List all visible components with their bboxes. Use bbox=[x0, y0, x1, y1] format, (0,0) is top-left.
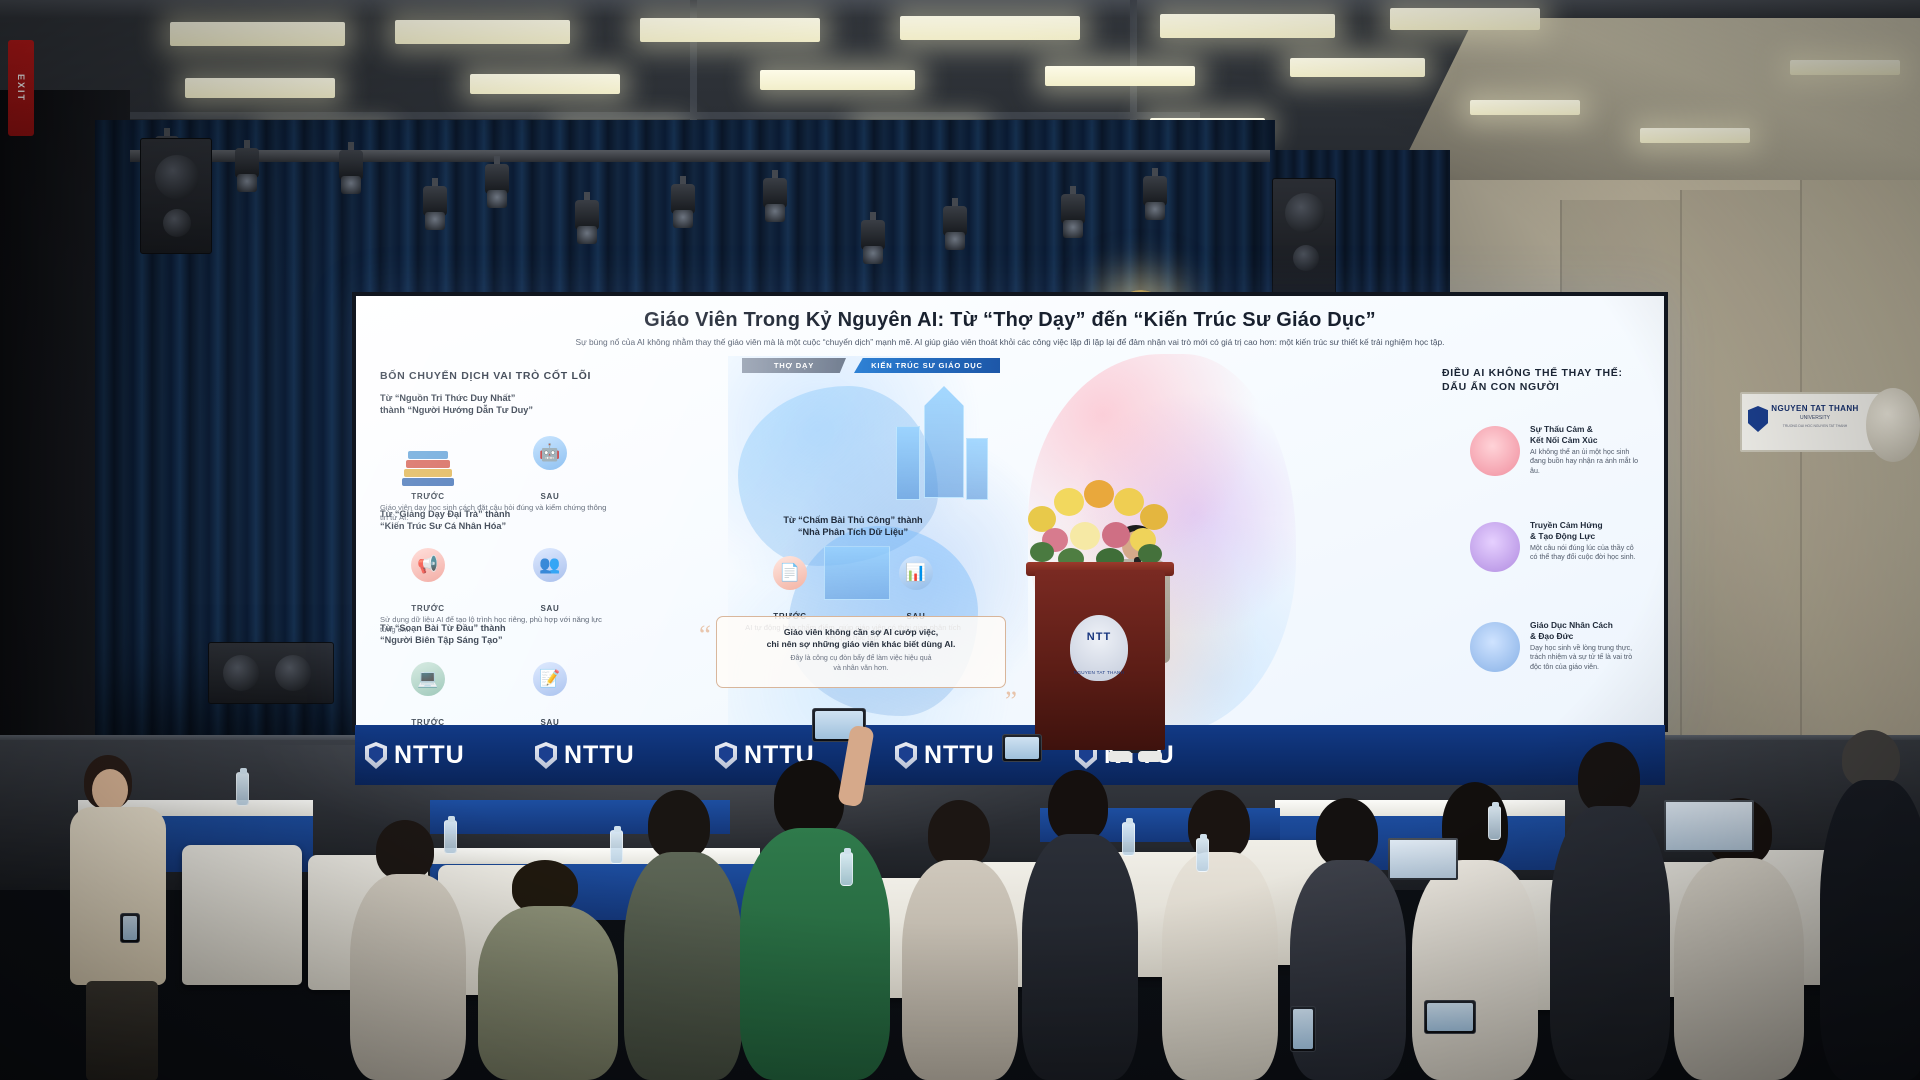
shift-block-1: Từ “Nguồn Tri Thức Duy Nhất” thành “Ngườ… bbox=[380, 392, 610, 524]
shift-2-before: 📢 TRƯỚC bbox=[380, 538, 476, 613]
audience-hair-1 bbox=[648, 790, 710, 860]
water-bottle-6[interactable] bbox=[1488, 806, 1501, 840]
analytics-dashboard-icon: 📊 bbox=[899, 556, 933, 590]
shift-3-after: 📝 SAU bbox=[502, 652, 598, 727]
audience-member-5 bbox=[1160, 790, 1280, 1080]
speaker-left bbox=[140, 138, 212, 254]
water-bottle-4[interactable] bbox=[840, 852, 853, 886]
shield-icon bbox=[715, 742, 737, 769]
right-column-heading: ĐIỀU AI KHÔNG THỂ THAY THẾ: DẤU ẤN CON N… bbox=[1442, 366, 1642, 394]
banner-logo-4: NTTU bbox=[895, 741, 995, 770]
audience-body-4 bbox=[1022, 834, 1138, 1080]
tab-before-tho-day[interactable]: THỢ DẠY bbox=[742, 358, 846, 373]
shift-block-3: Từ “Soạn Bài Từ Đầu” thành “Người Biên T… bbox=[380, 622, 610, 728]
audience-chair-1 bbox=[182, 845, 302, 985]
water-bottle-3[interactable] bbox=[610, 830, 623, 864]
city-tower-icon bbox=[924, 386, 964, 498]
audience-member-7 bbox=[1412, 782, 1538, 1080]
audience-body-11 bbox=[1674, 858, 1804, 1080]
shift-1-before-label: TRƯỚC bbox=[380, 492, 476, 501]
city-tower-icon-2 bbox=[896, 426, 920, 500]
audience-member-9 bbox=[1820, 730, 1920, 1080]
inspiration-icon bbox=[1470, 522, 1520, 572]
ceiling-light-1 bbox=[170, 22, 345, 46]
ai-document-icon: 📝 bbox=[533, 662, 567, 696]
audience-body-2 bbox=[740, 828, 890, 1080]
wall-clock-icon bbox=[1866, 388, 1920, 462]
stage-light-9 bbox=[858, 212, 888, 268]
stage-light-5 bbox=[482, 156, 512, 212]
quote-main: Giáo viên không cần sợ AI cướp việc, chỉ… bbox=[729, 626, 993, 650]
banner-label-4: NTTU bbox=[924, 741, 995, 770]
audience-member-2 bbox=[740, 760, 890, 1080]
shield-icon bbox=[535, 742, 557, 769]
tired-teacher-icon: 💻 bbox=[411, 662, 445, 696]
audience-hair-6 bbox=[1316, 798, 1378, 868]
paper-stack-pen-icon: 📄 bbox=[773, 556, 807, 590]
banner-label-1: NTTU bbox=[394, 741, 465, 770]
stage-light-4 bbox=[420, 178, 450, 234]
ceiling-light-2 bbox=[395, 20, 570, 44]
presenter-shoe-right bbox=[1138, 751, 1162, 762]
podium-seal: NTT NGUYEN TAT THANH bbox=[1070, 615, 1128, 681]
attendee-head bbox=[92, 769, 128, 811]
slide-subtitle: Sự bùng nổ của AI không nhằm thay thế gi… bbox=[526, 336, 1494, 348]
human-touch-1-heading: Sự Thấu Cảm & Kết Nối Cảm Xúc bbox=[1530, 424, 1642, 446]
speaker-right bbox=[1272, 178, 1336, 306]
left-column-heading: BỐN CHUYỂN DỊCH VAI TRÒ CỐT LÕI bbox=[380, 370, 591, 382]
presenter-shoe-left bbox=[1108, 751, 1132, 762]
audience-laptop[interactable] bbox=[1664, 800, 1754, 856]
audience-member-10 bbox=[478, 860, 618, 1080]
shift-3-before: 💻 TRƯỚC bbox=[380, 652, 476, 727]
shift-1-heading: Từ “Nguồn Tri Thức Duy Nhất” thành “Ngườ… bbox=[380, 392, 610, 417]
audience-hair-8 bbox=[1578, 742, 1640, 814]
human-touch-3-heading: Giáo Dục Nhân Cách & Đạo Đức bbox=[1530, 620, 1642, 642]
shield-icon bbox=[365, 742, 387, 769]
human-touch-2-body: Một câu nói đúng lúc của thầy cô có thể … bbox=[1530, 544, 1642, 563]
ceiling-light-11 bbox=[1290, 58, 1425, 77]
attendee-coat bbox=[70, 807, 166, 985]
tab-after-kien-truc-su[interactable]: KIẾN TRÚC SƯ GIÁO DỤC bbox=[854, 358, 1000, 373]
audience-body-5 bbox=[1162, 852, 1278, 1080]
ceiling-light-10 bbox=[1045, 66, 1195, 86]
audience-member-1 bbox=[624, 790, 744, 1080]
robot-tablet-icon: 🤖 bbox=[533, 436, 567, 470]
attendee-standing-left bbox=[60, 755, 180, 1080]
slide-title: Giáo Viên Trong Kỷ Nguyên AI: Từ “Thợ Dạ… bbox=[356, 309, 1664, 332]
stage-light-12 bbox=[1140, 168, 1170, 224]
audience-body-3 bbox=[902, 860, 1018, 1080]
shift-1-after-label: SAU bbox=[502, 492, 598, 501]
audience-hair-2 bbox=[774, 760, 844, 838]
ceiling-beam-1 bbox=[0, 112, 1200, 119]
ceiling-light-16 bbox=[1470, 100, 1580, 115]
shift-2-after-label: SAU bbox=[502, 604, 598, 613]
stage-light-2 bbox=[232, 140, 262, 196]
shift-block-2: Từ “Giảng Dạy Đại Trà” thành “Kiến Trúc … bbox=[380, 508, 610, 636]
shift-1-after: 🤖 SAU bbox=[502, 422, 598, 501]
banner-logo-1: NTTU bbox=[365, 741, 465, 770]
stage-light-7 bbox=[668, 176, 698, 232]
megaphone-crowd-icon: 📢 bbox=[411, 548, 445, 582]
speaker-floor-left bbox=[208, 642, 334, 704]
audience-member-4 bbox=[1020, 770, 1140, 1080]
audience-hair-4 bbox=[1048, 770, 1108, 842]
ceiling-light-3 bbox=[640, 18, 820, 42]
audience-body-1 bbox=[624, 852, 742, 1080]
heart-hug-icon bbox=[1470, 426, 1520, 476]
quote-close-icon: “ bbox=[1005, 681, 1017, 697]
ceiling-light-5 bbox=[1160, 14, 1335, 38]
ceiling-light-8 bbox=[470, 74, 620, 94]
attendee-skirt bbox=[86, 981, 158, 1080]
audience-tablet[interactable] bbox=[1424, 1000, 1476, 1034]
human-touch-2-heading: Truyền Cảm Hứng & Tạo Động Lực bbox=[1530, 520, 1642, 542]
projection-screen: Giáo Viên Trong Kỷ Nguyên AI: Từ “Thợ Dạ… bbox=[352, 292, 1668, 732]
shift-2-before-label: TRƯỚC bbox=[380, 604, 476, 613]
right-wall-panel-1 bbox=[1800, 180, 1920, 740]
books-icon bbox=[402, 452, 454, 486]
water-bottle-2[interactable] bbox=[444, 820, 457, 854]
human-touch-1-body: AI không thể an ủi một học sinh đang buồ… bbox=[1530, 448, 1642, 477]
human-touch-item-1: Sự Thấu Cảm & Kết Nối Cảm Xúc AI không t… bbox=[1530, 424, 1642, 477]
audience-laptop-2[interactable] bbox=[1388, 838, 1458, 884]
water-bottle-1[interactable] bbox=[236, 772, 249, 806]
stage-light-6 bbox=[572, 192, 602, 248]
screenshot-root: EXIT NGUYEN TAT THANH UNIVERSITY TRUONG … bbox=[0, 0, 1920, 1080]
ceiling-light-9 bbox=[760, 70, 915, 90]
ceiling-light-6 bbox=[1390, 8, 1540, 30]
podium-mark: NTT bbox=[1070, 631, 1128, 643]
shift-3-heading: Từ “Soạn Bài Từ Đầu” thành “Người Biên T… bbox=[380, 622, 610, 647]
water-bottle-7[interactable] bbox=[1196, 838, 1209, 872]
podium-caption: NGUYEN TAT THANH bbox=[1070, 670, 1128, 675]
stage-light-8 bbox=[760, 170, 790, 226]
audience-body-7 bbox=[1412, 860, 1538, 1080]
human-touch-item-3: Giáo Dục Nhân Cách & Đạo Đức Dạy học sin… bbox=[1530, 620, 1642, 673]
audience-body-10 bbox=[478, 906, 618, 1080]
slide-quote: “ Giáo viên không cần sợ AI cướp việc, c… bbox=[716, 616, 1006, 688]
human-touch-item-2: Truyền Cảm Hứng & Tạo Động Lực Một câu n… bbox=[1530, 520, 1642, 563]
water-bottle-5[interactable] bbox=[1122, 822, 1135, 856]
ceiling-light-18 bbox=[1790, 60, 1900, 75]
exit-sign: EXIT bbox=[8, 40, 34, 136]
quote-open-icon: “ bbox=[699, 627, 711, 643]
ceiling-light-17 bbox=[1640, 128, 1750, 143]
quote-sub: Đây là công cụ đòn bẩy để làm việc hiệu … bbox=[729, 654, 993, 673]
center-shift-after: 📊 SAU bbox=[870, 544, 962, 621]
city-tower-icon-3 bbox=[966, 438, 988, 500]
audience-phone-held[interactable] bbox=[1290, 1006, 1316, 1052]
right-wall-panel-2 bbox=[1680, 190, 1800, 740]
audience-body-12 bbox=[350, 874, 466, 1080]
banner-logo-2: NTTU bbox=[535, 741, 635, 770]
audience-hair-3 bbox=[928, 800, 990, 868]
ceiling-light-7 bbox=[185, 78, 335, 98]
center-shift-before: 📄 TRƯỚC bbox=[744, 544, 836, 621]
banner-label-2: NTTU bbox=[564, 741, 635, 770]
stage-light-10 bbox=[940, 198, 970, 254]
ethics-icon bbox=[1470, 622, 1520, 672]
personalized-learners-icon: 👥 bbox=[533, 548, 567, 582]
shift-1-before: TRƯỚC bbox=[380, 436, 476, 501]
ceiling-light-4 bbox=[900, 16, 1080, 40]
audience-phone-4[interactable] bbox=[1002, 734, 1042, 762]
presentation-slide: Giáo Viên Trong Kỷ Nguyên AI: Từ “Thợ Dạ… bbox=[356, 296, 1664, 728]
audience-hair-12 bbox=[376, 820, 434, 880]
shield-icon bbox=[895, 742, 917, 769]
audience-member-3 bbox=[900, 800, 1020, 1080]
audience-body-8 bbox=[1550, 806, 1670, 1080]
plaque-shield-icon bbox=[1748, 406, 1768, 432]
center-shift-heading: Từ “Chấm Bài Thủ Công” thành “Nhà Phân T… bbox=[744, 514, 962, 539]
audience-member-12 bbox=[348, 820, 468, 1080]
audience-member-8 bbox=[1550, 742, 1670, 1080]
human-touch-3-body: Dạy học sinh về lòng trung thực, trách n… bbox=[1530, 644, 1642, 673]
shift-2-heading: Từ “Giảng Dạy Đại Trà” thành “Kiến Trúc … bbox=[380, 508, 610, 533]
lighting-truss bbox=[130, 150, 1270, 162]
stage-light-11 bbox=[1058, 186, 1088, 242]
attendee-phone[interactable] bbox=[120, 913, 140, 943]
shift-2-after: 👥 SAU bbox=[502, 538, 598, 613]
stage-light-3 bbox=[336, 142, 366, 198]
audience-body-9 bbox=[1820, 780, 1920, 1080]
